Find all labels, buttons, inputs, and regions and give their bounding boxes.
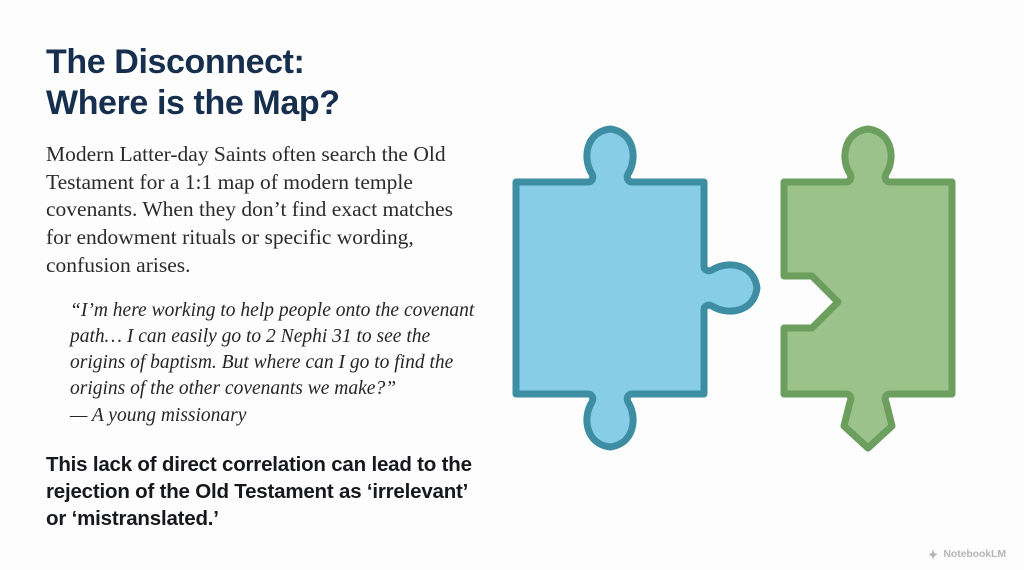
- notebooklm-spark-icon: [928, 549, 939, 560]
- quote-attribution: — A young missionary: [70, 403, 480, 429]
- notebooklm-watermark: NotebookLM: [928, 548, 1006, 560]
- conclusion-statement: This lack of direct correlation can lead…: [46, 451, 488, 532]
- puzzle-illustration: [494, 96, 1014, 476]
- blue-puzzle-piece: [516, 129, 757, 447]
- watermark-label: NotebookLM: [943, 548, 1006, 560]
- green-puzzle-piece: [784, 129, 952, 448]
- intro-paragraph: Modern Latter-day Saints often search th…: [46, 141, 478, 281]
- slide-canvas: The Disconnect: Where is the Map? Modern…: [0, 0, 1024, 570]
- quote-text: “I’m here working to help people onto th…: [70, 298, 480, 402]
- page-title: The Disconnect: Where is the Map?: [46, 42, 486, 124]
- pull-quote: “I’m here working to help people onto th…: [70, 298, 480, 429]
- text-column: The Disconnect: Where is the Map? Modern…: [46, 42, 486, 532]
